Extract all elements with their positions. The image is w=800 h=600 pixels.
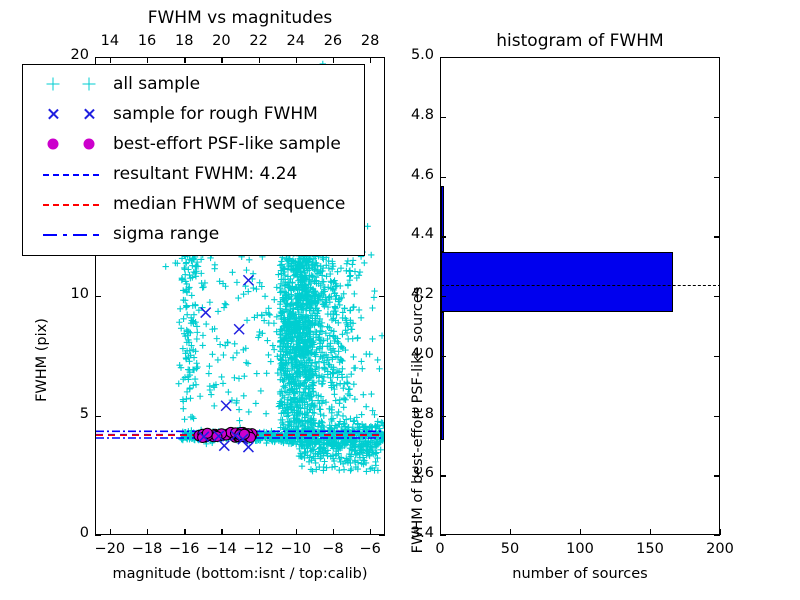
axis-tick <box>221 529 222 535</box>
tick-label: 26 <box>313 33 353 49</box>
tick-label: 4.4 <box>390 226 434 242</box>
legend-item-label: all sample <box>113 74 200 94</box>
legend-item-label: sample for rough FWHM <box>113 104 318 124</box>
axis-tick <box>440 117 446 118</box>
legend-item[interactable]: best-effort PSF-like sample <box>27 129 356 159</box>
axis-tick <box>370 57 371 63</box>
axis-tick <box>440 296 446 297</box>
axis-tick <box>714 356 720 357</box>
axis-tick <box>379 535 385 536</box>
axis-tick <box>440 177 446 178</box>
tick-label: 14 <box>90 33 130 49</box>
axis-tick <box>95 416 101 417</box>
tick-label: 4.6 <box>390 167 434 183</box>
axis-tick <box>440 356 446 357</box>
tick-label: −6 <box>348 541 392 557</box>
plot-legend[interactable]: all samplesample for rough FWHMbest-effo… <box>22 64 365 256</box>
histogram-bar <box>441 252 673 312</box>
left-ylabel: FWHM (pix) <box>34 270 50 450</box>
tick-label: 16 <box>127 33 167 49</box>
axis-tick <box>720 529 721 535</box>
axis-tick <box>714 177 720 178</box>
figure-canvas: FWHM vs magnitudes 1416182022242628 −20−… <box>0 0 800 600</box>
left-panel-title: FWHM vs magnitudes <box>95 8 385 28</box>
legend-item-label: resultant FWHM: 4.24 <box>113 164 297 184</box>
legend-line-sample <box>43 204 99 206</box>
tick-label: 20 <box>43 47 89 63</box>
axis-tick <box>259 529 260 535</box>
tick-label: 20 <box>201 33 241 49</box>
tick-label: 150 <box>628 541 672 557</box>
tick-label: 5.0 <box>390 47 434 63</box>
axis-tick <box>259 57 260 63</box>
right-panel-title: histogram of FWHM <box>440 31 720 51</box>
axis-tick <box>333 57 334 63</box>
axis-tick <box>296 57 297 63</box>
legend-glyph <box>83 108 96 121</box>
tick-label: 24 <box>276 33 316 49</box>
axis-tick <box>147 57 148 63</box>
left-xlabel: magnitude (bottom:isnt / top:calib) <box>95 566 385 582</box>
tick-label: 4.8 <box>390 107 434 123</box>
axis-tick <box>221 57 222 63</box>
legend-item-label: median FHWM of sequence <box>113 194 345 214</box>
axis-tick <box>510 529 511 535</box>
legend-item-label: sigma range <box>113 224 219 244</box>
hist-ylabel: FWHM of best-effort PSF-like sources <box>410 255 426 585</box>
legend-glyph <box>83 78 96 91</box>
legend-glyph <box>48 139 59 150</box>
axis-tick <box>714 416 720 417</box>
legend-marker-dashdot-line-icon <box>27 219 113 249</box>
legend-glyph <box>47 108 60 121</box>
histogram-axes <box>440 57 720 535</box>
axis-tick <box>296 529 297 535</box>
legend-line-sample <box>43 234 99 236</box>
legend-marker-plus-icon <box>27 69 113 99</box>
tick-label: 50 <box>488 541 532 557</box>
axis-tick <box>370 529 371 535</box>
axis-tick <box>110 57 111 63</box>
axis-tick <box>714 535 720 536</box>
axis-tick <box>95 57 101 58</box>
axis-tick <box>714 475 720 476</box>
tick-label: 18 <box>164 33 204 49</box>
tick-label: 22 <box>239 33 279 49</box>
histogram-bar <box>441 186 444 252</box>
tick-label: 200 <box>698 541 742 557</box>
tick-label: 0 <box>43 525 89 541</box>
legend-item[interactable]: median FHWM of sequence <box>27 189 356 219</box>
axis-tick <box>379 57 385 58</box>
legend-item[interactable]: sigma range <box>27 219 356 249</box>
legend-item[interactable]: resultant FWHM: 4.24 <box>27 159 356 189</box>
histogram-canvas <box>441 58 719 534</box>
legend-glyph <box>84 139 95 150</box>
axis-tick <box>650 529 651 535</box>
legend-marker-dashed-line-icon <box>27 159 113 189</box>
axis-tick <box>95 535 101 536</box>
legend-glyph <box>47 78 60 91</box>
axis-tick <box>147 529 148 535</box>
axis-tick <box>184 57 185 63</box>
axis-tick <box>580 529 581 535</box>
legend-marker-cross-icon <box>27 99 113 129</box>
axis-tick <box>440 416 446 417</box>
legend-item-label: best-effort PSF-like sample <box>113 134 341 154</box>
legend-item[interactable]: all sample <box>27 69 356 99</box>
hist-reference-line <box>441 285 719 286</box>
hist-xlabel: number of sources <box>440 566 720 582</box>
histogram-bar <box>441 312 444 440</box>
axis-tick <box>714 236 720 237</box>
tick-label: 100 <box>558 541 602 557</box>
axis-tick <box>714 296 720 297</box>
axis-tick <box>110 529 111 535</box>
axis-tick <box>440 535 446 536</box>
axis-tick <box>184 529 185 535</box>
legend-line-sample <box>43 174 99 176</box>
tick-label: 28 <box>350 33 390 49</box>
legend-marker-dot-icon <box>27 129 113 159</box>
axis-tick <box>379 416 385 417</box>
axis-tick <box>440 57 446 58</box>
axis-tick <box>714 117 720 118</box>
axis-tick <box>440 475 446 476</box>
legend-marker-dashed-line-icon <box>27 189 113 219</box>
axis-tick <box>714 57 720 58</box>
legend-item[interactable]: sample for rough FWHM <box>27 99 356 129</box>
axis-tick <box>333 529 334 535</box>
axis-tick <box>95 296 101 297</box>
axis-tick <box>440 236 446 237</box>
axis-tick <box>379 296 385 297</box>
